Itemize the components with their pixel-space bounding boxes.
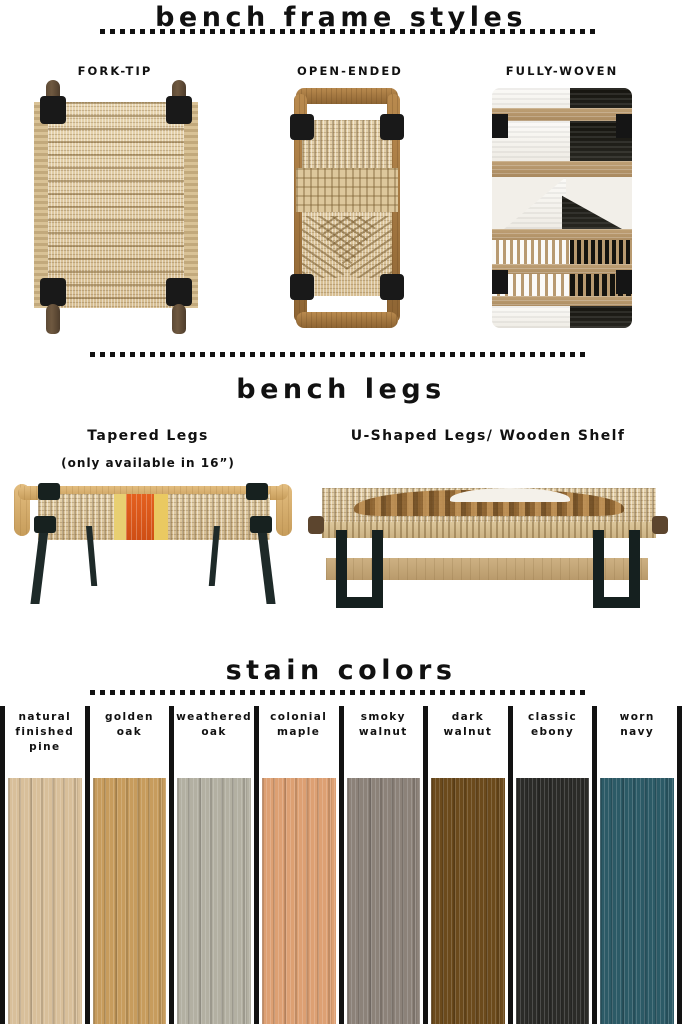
stain-label: natural finished pine xyxy=(5,710,85,755)
stain-chip xyxy=(177,778,251,1024)
weave-row xyxy=(492,121,632,161)
weave-tan-band xyxy=(492,161,632,177)
leg-label-tapered: Tapered Legs xyxy=(48,428,248,444)
corner-bracket xyxy=(492,270,508,294)
bench-frame-fork-tip-image[interactable] xyxy=(32,88,200,328)
tapered-leg xyxy=(257,526,276,604)
weave-chevron-pattern xyxy=(302,216,392,278)
corner-bracket xyxy=(290,114,314,140)
corner-bracket xyxy=(166,278,192,306)
corner-bracket xyxy=(616,270,632,294)
fork-prong xyxy=(46,304,60,334)
divider-dots-legs xyxy=(90,352,590,357)
u-leg-foot xyxy=(336,597,383,608)
corner-bracket xyxy=(290,274,314,300)
stain-label: worn navy xyxy=(597,710,677,740)
leg-label-u-shaped: U-Shaped Legs/ Wooden Shelf xyxy=(300,428,676,444)
stain-chip xyxy=(93,778,167,1024)
corner-bracket xyxy=(380,274,404,300)
weave-stripe-yellow xyxy=(114,494,126,540)
stain-swatch-colonial-maple[interactable]: colonial maple xyxy=(254,706,339,1024)
weave-arch-black xyxy=(562,177,622,229)
divider-dots-frames xyxy=(100,29,600,34)
stain-chip xyxy=(431,778,505,1024)
weave-row-comb xyxy=(492,240,632,266)
bench-legs-tapered-image[interactable] xyxy=(8,478,298,608)
corner-bracket xyxy=(40,278,66,306)
stain-label: colonial maple xyxy=(259,710,339,740)
divider-dots-stains xyxy=(90,690,590,695)
bench-legs-u-shaped-image[interactable] xyxy=(300,470,676,610)
stain-chip xyxy=(8,778,82,1024)
stain-swatch-smoky-walnut[interactable]: smoky walnut xyxy=(339,706,424,1024)
corner-bracket xyxy=(246,483,268,500)
frame-bottom-rail xyxy=(296,312,398,328)
stain-swatch-dark-walnut[interactable]: dark walnut xyxy=(423,706,508,1024)
u-leg-foot xyxy=(593,597,640,608)
stain-label: classic ebony xyxy=(513,710,593,740)
stain-chip xyxy=(516,778,590,1024)
stain-swatch-worn-navy[interactable]: worn navy xyxy=(592,706,682,1024)
corner-bracket xyxy=(40,96,66,124)
weave-arch-white xyxy=(504,177,566,229)
stain-chip xyxy=(600,778,674,1024)
corner-bracket xyxy=(380,114,404,140)
stain-label: smoky walnut xyxy=(344,710,424,740)
leg-note-tapered: (only available in 16”) xyxy=(28,456,268,470)
stain-swatch-weathered-oak[interactable]: weathered oak xyxy=(169,706,254,1024)
stain-label: golden oak xyxy=(90,710,170,740)
stain-swatch-classic-ebony[interactable]: classic ebony xyxy=(508,706,593,1024)
woven-jute-seat xyxy=(48,102,184,308)
corner-bracket xyxy=(250,516,272,533)
weave-row-comb xyxy=(492,274,632,298)
weave-stripe-yellow xyxy=(154,494,168,540)
frame-label-fully-woven: FULLY-WOVEN xyxy=(482,64,642,78)
corner-bracket xyxy=(616,114,632,138)
corner-bracket xyxy=(38,483,60,500)
stain-label: weathered oak xyxy=(174,710,254,740)
stain-chip xyxy=(262,778,336,1024)
bench-options-infographic: bench frame styles FORK-TIP OPEN-ENDED F… xyxy=(0,0,682,1024)
frame-label-open-ended: OPEN-ENDED xyxy=(270,64,430,78)
weave-tan-band xyxy=(492,108,632,121)
weave-stripe-orange xyxy=(126,494,154,540)
weave-band-vertical xyxy=(302,120,392,168)
corner-bracket xyxy=(34,516,56,533)
bench-frame-fully-woven-image[interactable] xyxy=(492,88,632,328)
stain-label: dark walnut xyxy=(428,710,508,740)
bench-frame-open-ended-image[interactable] xyxy=(282,88,412,328)
tapered-leg xyxy=(30,526,49,604)
stain-swatch-natural-finished-pine[interactable]: natural finished pine xyxy=(0,706,85,1024)
corner-bracket xyxy=(166,96,192,124)
frame-top-rail xyxy=(296,88,398,104)
stain-swatch-golden-oak[interactable]: golden oak xyxy=(85,706,170,1024)
section-title-stain-colors: stain colors xyxy=(0,655,682,686)
frame-end-cap xyxy=(652,516,668,534)
weave-row xyxy=(492,306,632,328)
stain-color-swatch-row: natural finished pine golden oak weather… xyxy=(0,706,682,1024)
frame-end-cap xyxy=(308,516,324,534)
fork-prong xyxy=(172,304,186,334)
section-title-bench-legs: bench legs xyxy=(0,374,682,405)
stain-chip xyxy=(347,778,421,1024)
frame-label-fork-tip: FORK-TIP xyxy=(35,64,195,78)
corner-bracket xyxy=(492,114,508,138)
weave-band-grid xyxy=(296,168,398,212)
